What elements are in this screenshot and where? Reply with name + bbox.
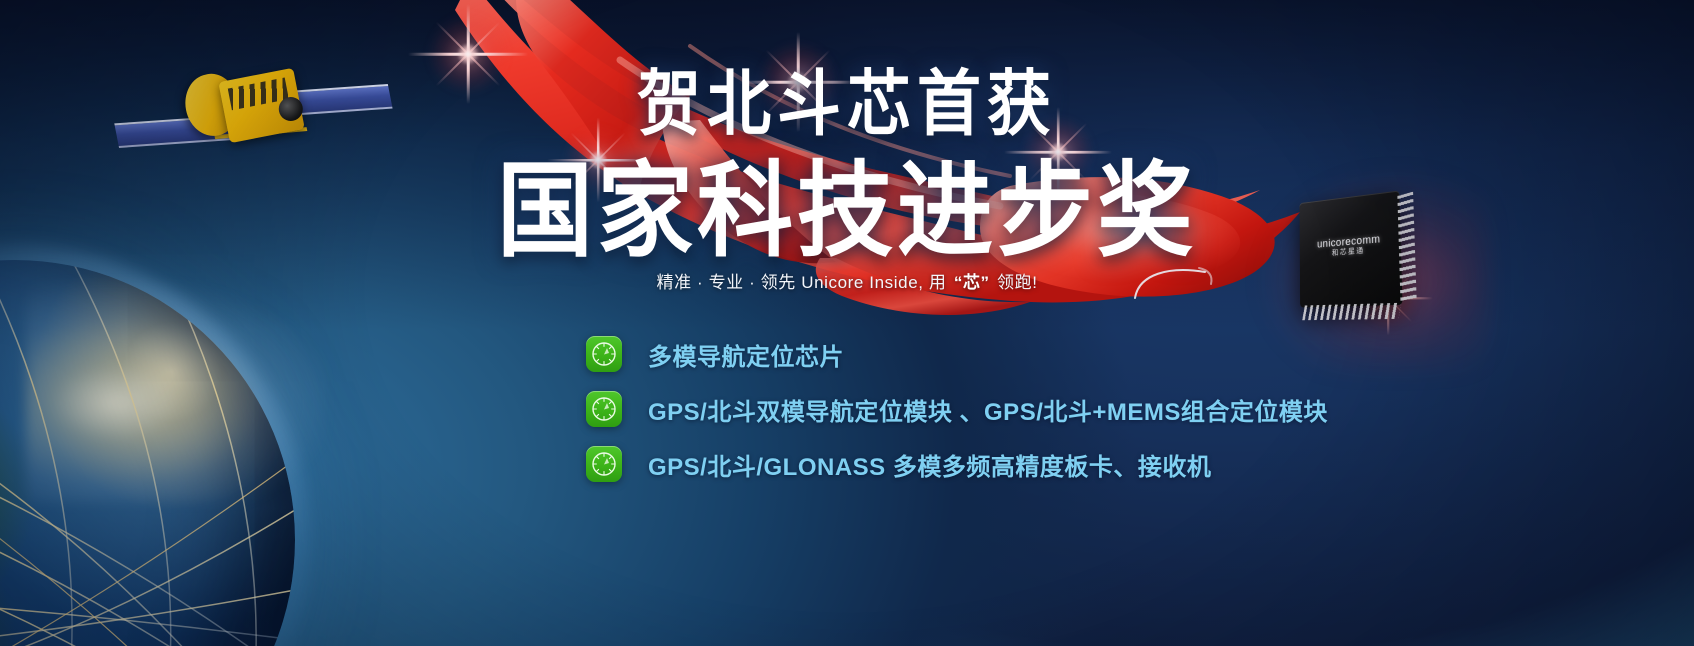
feature-label: GPS/北斗/GLONASS 多模多频高精度板卡、接收机 <box>648 447 1211 482</box>
feature-item[interactable]: GPS/北斗双模导航定位模块 、GPS/北斗+MEMS组合定位模块 <box>586 391 1328 427</box>
background-vignette <box>0 0 1694 646</box>
compass-icon <box>586 446 622 482</box>
feature-item[interactable]: GPS/北斗/GLONASS 多模多频高精度板卡、接收机 <box>586 446 1328 482</box>
compass-icon <box>586 391 622 427</box>
promo-banner: unicorecomm 和芯星通 贺北斗芯首获 国家科技进步奖 精准 · 专业 … <box>0 0 1694 646</box>
feature-label: 多模导航定位芯片 <box>648 337 844 372</box>
feature-label: GPS/北斗双模导航定位模块 、GPS/北斗+MEMS组合定位模块 <box>648 392 1328 427</box>
compass-icon <box>586 336 622 372</box>
feature-list: 多模导航定位芯片 GPS/北斗双模导航定位模块 、GPS/北斗+MEMS组合定位… <box>586 336 1328 482</box>
feature-item[interactable]: 多模导航定位芯片 <box>586 336 1328 372</box>
